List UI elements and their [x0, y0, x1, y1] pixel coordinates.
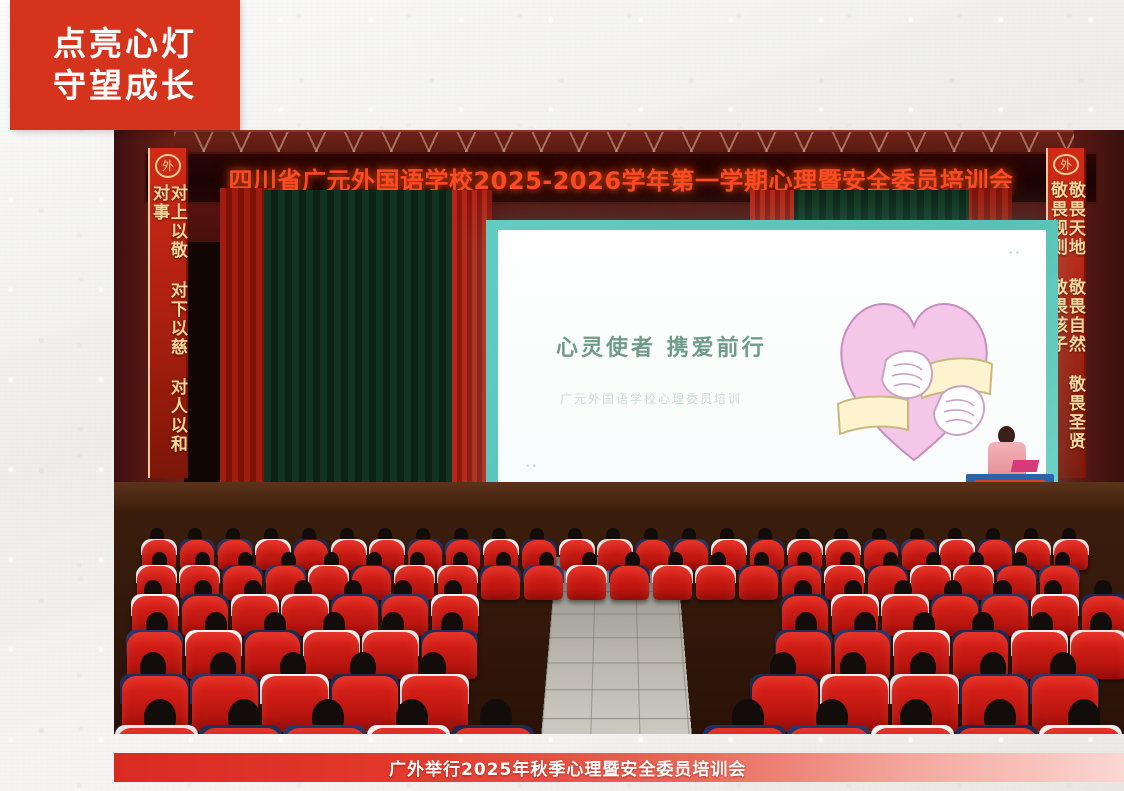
event-photo: 四川省广元外国语学校2025-2026学年第一学期心理暨安全委员培训会 外 对上…	[114, 130, 1124, 734]
caption-text: 广外举行2025年秋季心理暨安全委员培训会	[389, 755, 746, 780]
auditorium-seat	[739, 566, 778, 600]
heart-hug-illustration-icon	[824, 282, 1004, 467]
curtain-green-left	[264, 190, 464, 520]
badge-line-2: 守望成长	[53, 66, 197, 106]
vertical-banner-left-text: 对上以敬 对下以慈 对人以和 对事	[150, 184, 186, 478]
school-emblem-icon: 外	[1053, 154, 1079, 175]
auditorium-seat	[653, 566, 692, 600]
auditorium-seat	[117, 728, 197, 734]
auditorium-seat	[610, 566, 649, 600]
badge-line-1: 点亮心灯	[53, 24, 197, 64]
auditorium-seat	[696, 566, 735, 600]
auditorium-seat	[524, 566, 563, 600]
auditorium-seat	[957, 728, 1037, 734]
vertical-banner-left: 外 对上以敬 对下以慈 对人以和 对事	[148, 148, 188, 478]
auditorium-seat	[567, 566, 606, 600]
auditorium-seat	[201, 728, 281, 734]
presentation-slide: 心灵使者 携爱前行 广元外国语学校心理委员培训 •• ••	[498, 230, 1046, 502]
headline-badge: 点亮心灯 守望成长	[10, 0, 240, 130]
presenter-laptop	[1011, 460, 1040, 472]
auditorium-seat	[873, 728, 953, 734]
auditorium-seat	[369, 728, 449, 734]
auditorium-seat	[705, 728, 785, 734]
slide-decor-dots-icon: ••	[526, 461, 539, 472]
caption-bar: 广外举行2025年秋季心理暨安全委员培训会	[114, 753, 1124, 782]
slide-subtitle: 广元外国语学校心理委员培训	[560, 390, 742, 407]
auditorium-seat	[789, 728, 869, 734]
audience-area	[114, 482, 1124, 734]
school-emblem-icon: 外	[155, 154, 181, 178]
auditorium-seat	[453, 728, 533, 734]
auditorium-seat	[481, 566, 520, 600]
auditorium-seat	[285, 728, 365, 734]
auditorium-seat	[1071, 632, 1124, 679]
slide-decor-dots-icon: ••	[1009, 248, 1022, 259]
slide-title: 心灵使者 携爱前行	[556, 330, 767, 362]
auditorium-seat	[1041, 728, 1121, 734]
